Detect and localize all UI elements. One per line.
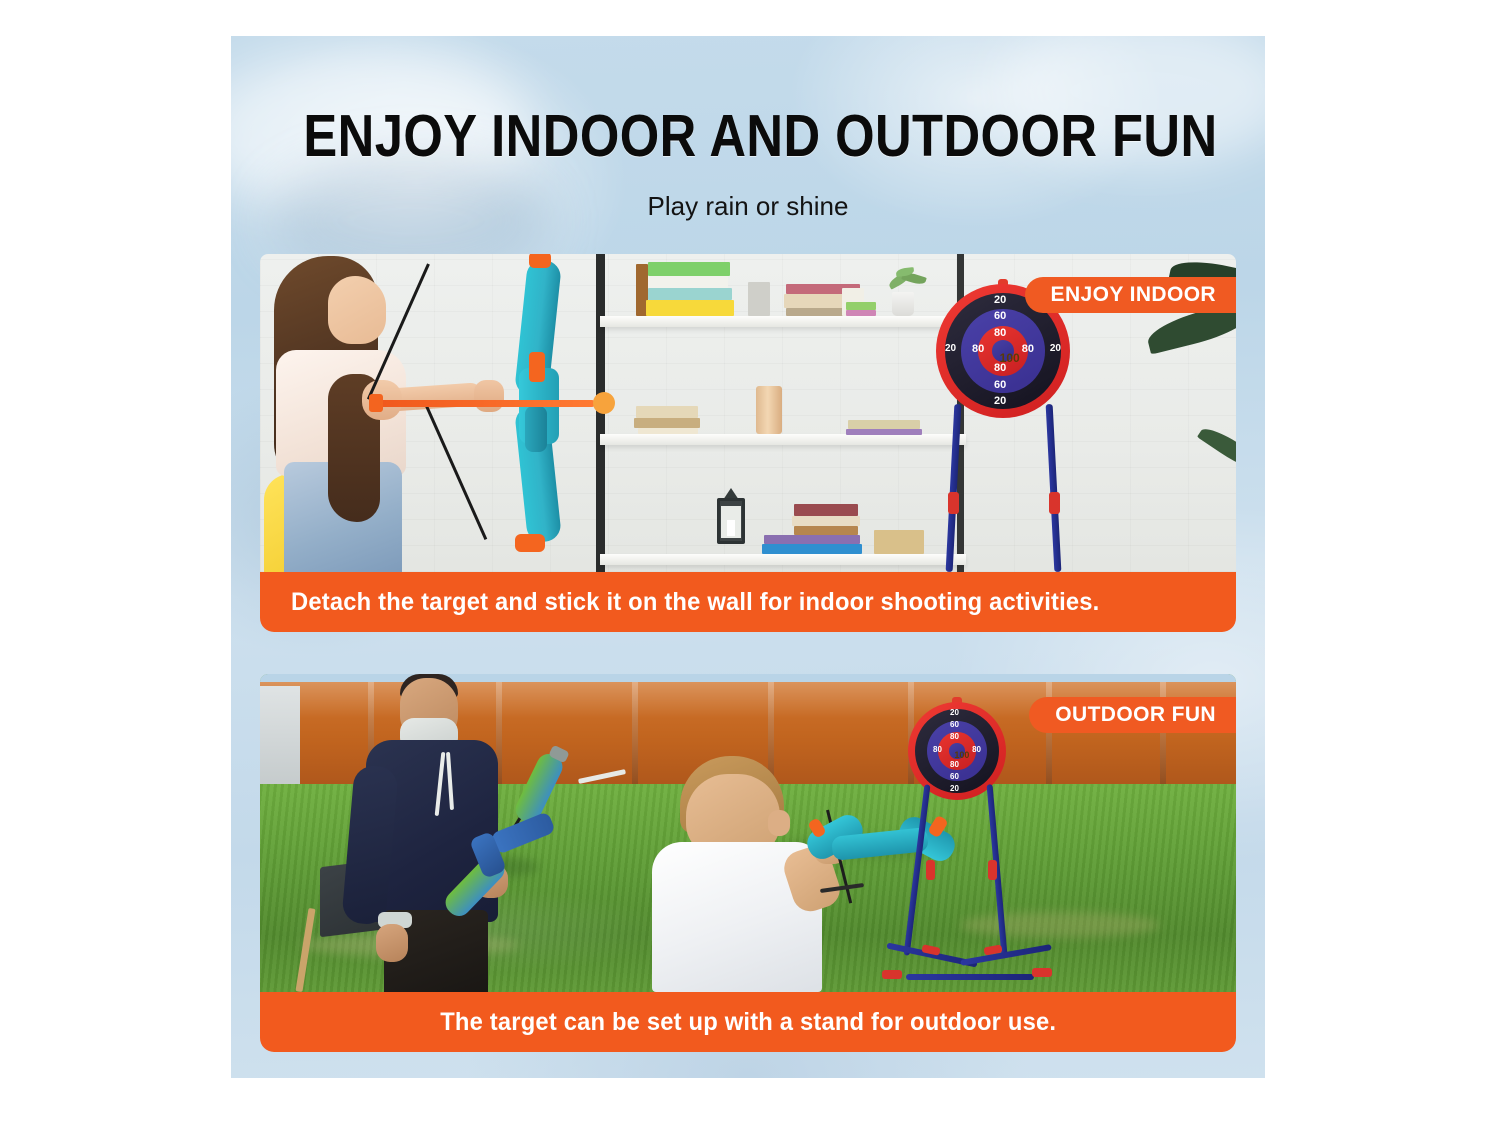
arrow-tip [593,392,615,414]
stand-joint [948,492,959,514]
face [328,276,386,344]
target-score-80: 80 [972,344,984,355]
target-score-80: 80 [950,733,959,741]
target-score-80: 80 [994,363,1006,374]
book [846,310,876,316]
white-crate [260,686,300,794]
book [764,535,860,544]
stand-base-bar [906,974,1034,980]
book [846,302,876,310]
target-score-80: 80 [1022,344,1034,355]
book [794,504,858,516]
lantern-candle [727,520,735,536]
target-score-20: 20 [950,785,959,793]
target-score-20: 20 [950,709,959,717]
candle-jar-icon [756,386,782,434]
book [638,428,698,434]
book [874,530,924,554]
book [648,262,730,276]
book [848,420,920,429]
target-score-60: 60 [994,380,1006,391]
stand-joint [1032,968,1052,977]
bow-tip-lower [515,534,545,552]
book [648,276,728,288]
shelf-board [600,554,966,565]
shelf-board [600,434,966,445]
book [648,288,732,300]
bow-grip [525,406,547,452]
book [634,418,700,428]
target-score-20: 20 [945,344,956,354]
panel-outdoor: 100 20 20 60 60 80 80 80 80 [260,674,1236,1052]
target-score-60: 60 [950,721,959,729]
book [792,516,860,526]
target-score-80: 80 [994,328,1006,339]
outdoor-caption-bar: The target can be set up with a stand fo… [260,992,1236,1052]
badge-label: OUTDOOR FUN [1055,703,1216,727]
book [762,544,862,554]
outdoor-photo: 100 20 20 60 60 80 80 80 80 [260,674,1236,992]
target-score-60: 60 [950,773,959,781]
lantern-icon [714,486,748,552]
target-score-60: 60 [994,311,1006,322]
target-score-20: 20 [994,295,1006,306]
screenshot-root: ENJOY INDOOR AND OUTDOOR FUN Play rain o… [0,0,1500,1125]
grass-patch [960,912,1160,938]
headline-block: ENJOY INDOOR AND OUTDOOR FUN Play rain o… [231,36,1265,222]
indoor-photo: 100 20 20 60 60 80 80 80 80 20 20 [260,254,1236,572]
indoor-caption-text: Detach the target and stick it on the wa… [291,588,1099,617]
bow-accent [529,352,545,382]
target-score-80: 80 [972,746,981,754]
outdoor-caption-text: The target can be set up with a stand fo… [440,1008,1056,1037]
book [646,300,734,316]
ear [768,810,790,836]
indoor-caption-bar: Detach the target and stick it on the wa… [260,572,1236,632]
plant-pot-icon [892,292,914,316]
target-score-20: 20 [1050,344,1061,354]
stand-joint [988,860,997,880]
bookshelf [596,254,966,572]
product-poster: ENJOY INDOOR AND OUTDOOR FUN Play rain o… [231,36,1265,1078]
panel-indoor: 100 20 20 60 60 80 80 80 80 20 20 [260,254,1236,632]
stand-joint [1049,492,1060,514]
target-score-80: 80 [950,761,959,769]
book [636,406,698,418]
page-subtitle: Play rain or shine [231,191,1265,222]
arrow-nock [369,394,383,412]
green-blue-bow [466,766,588,916]
bow-tip-upper [529,254,551,268]
shelf-board [600,316,966,327]
book [794,526,858,535]
target-score-20: 20 [994,396,1006,407]
badge-outdoor-fun: OUTDOOR FUN [1029,697,1236,733]
hand [376,924,408,962]
decor-block [748,282,770,316]
page-title: ENJOY INDOOR AND OUTDOOR FUN [303,102,1192,170]
arrow-shaft [377,400,595,407]
badge-label: ENJOY INDOOR [1051,283,1216,307]
book [846,429,922,435]
teal-bow [475,256,605,546]
stand-joint [926,860,935,880]
stand-joint [882,970,902,979]
badge-enjoy-indoor: ENJOY INDOOR [1025,277,1236,313]
target-score-80: 80 [933,746,942,754]
